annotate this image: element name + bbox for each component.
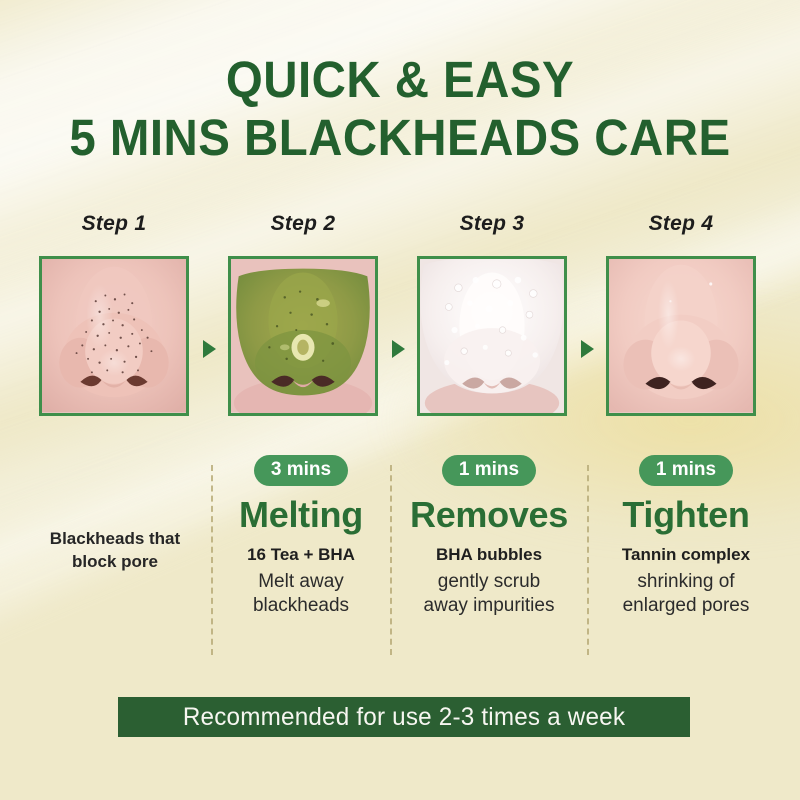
benefit-headline-tighten: Tighten — [591, 495, 781, 535]
benefit-ingredient-tighten: Tannin complex — [591, 544, 781, 566]
duration-badge-tighten: 1 mins — [639, 455, 733, 486]
step-arrow-3 — [581, 340, 594, 358]
duration-badge-removes: 1 mins — [442, 455, 536, 486]
benefit-ingredient-removes: BHA bubbles — [394, 544, 584, 566]
nose-green-mask-illustration — [231, 259, 375, 413]
step-label-1: Step 1 — [38, 212, 190, 242]
step-item-3: Step 3 — [416, 212, 568, 416]
page-title-line-2: 5 MINS BLACKHEADS CARE — [28, 110, 772, 166]
step-item-1: Step 1 — [38, 212, 190, 416]
nose-blackheads-illustration — [42, 259, 186, 413]
blackheads-caption: Blackheads that block pore — [25, 527, 205, 573]
step-image-2 — [228, 256, 378, 416]
steps-row: Step 1 — [0, 212, 800, 427]
page-title-line-1: QUICK & EASY — [28, 52, 772, 108]
benefit-description-line-2: enlarged pores — [591, 594, 781, 618]
step-item-4: Step 4 — [605, 212, 757, 416]
column-divider — [211, 465, 213, 655]
benefit-description-removes: gently scrub away impurities — [394, 570, 584, 618]
step-image-3 — [417, 256, 567, 416]
blackheads-caption-line-1: Blackheads that — [25, 527, 205, 550]
poster-root: QUICK & EASY 5 MINS BLACKHEADS CARE Step… — [0, 0, 800, 800]
recommendation-banner-text: Recommended for use 2-3 times a week — [183, 703, 625, 732]
benefit-ingredient-melting: 16 Tea + BHA — [216, 544, 386, 566]
benefit-column-removes: 1 mins Removes BHA bubbles gently scrub … — [394, 455, 584, 618]
step-image-4 — [606, 256, 756, 416]
recommendation-banner: Recommended for use 2-3 times a week — [118, 697, 690, 737]
step-arrow-1 — [203, 340, 216, 358]
nose-clean-illustration — [609, 259, 753, 413]
benefit-description-melting: Melt away blackheads — [216, 570, 386, 618]
step-arrow-2 — [392, 340, 405, 358]
benefit-headline-melting: Melting — [216, 495, 386, 535]
step-label-3: Step 3 — [416, 212, 568, 242]
benefit-description-tighten: shrinking of enlarged pores — [591, 570, 781, 618]
benefit-description-line-1: Melt away — [216, 570, 386, 594]
benefit-description-line-1: gently scrub — [394, 570, 584, 594]
column-divider — [390, 465, 392, 655]
step-label-2: Step 2 — [227, 212, 379, 242]
benefit-column-tighten: 1 mins Tighten Tannin complex shrinking … — [591, 455, 781, 618]
duration-badge-melting: 3 mins — [254, 455, 348, 486]
nose-white-bubbles-illustration — [420, 259, 564, 413]
benefits-row: Blackheads that block pore 3 mins Meltin… — [0, 455, 800, 655]
step-image-1 — [39, 256, 189, 416]
blackheads-caption-line-2: block pore — [25, 550, 205, 573]
column-divider — [587, 465, 589, 655]
benefit-column-melting: 3 mins Melting 16 Tea + BHA Melt away bl… — [216, 455, 386, 618]
benefit-headline-removes: Removes — [394, 495, 584, 535]
step-item-2: Step 2 — [227, 212, 379, 416]
benefit-description-line-2: away impurities — [394, 594, 584, 618]
benefit-description-line-2: blackheads — [216, 594, 386, 618]
step-label-4: Step 4 — [605, 212, 757, 242]
benefit-description-line-1: shrinking of — [591, 570, 781, 594]
